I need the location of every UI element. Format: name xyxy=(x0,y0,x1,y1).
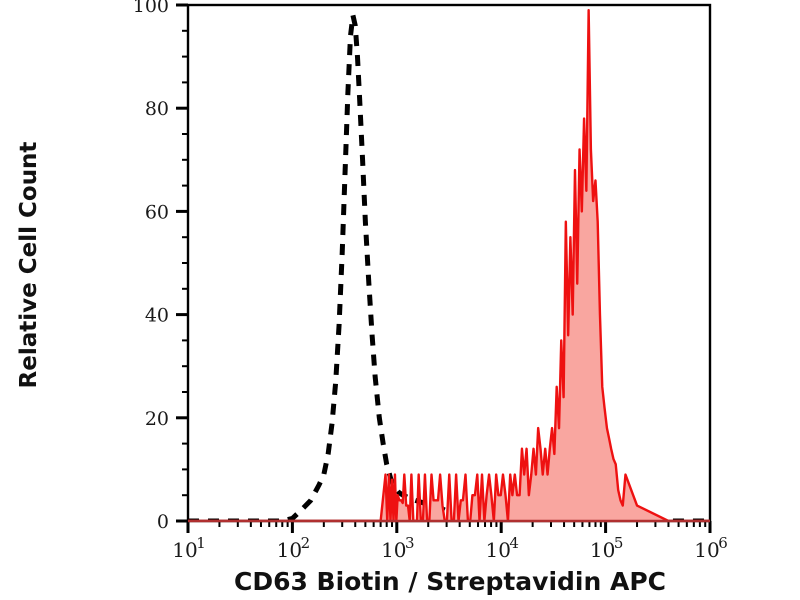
svg-text:1: 1 xyxy=(196,534,206,552)
y-tick-label: 60 xyxy=(145,201,169,223)
svg-text:2: 2 xyxy=(301,534,311,552)
y-tick-label: 0 xyxy=(157,511,169,533)
svg-text:10: 10 xyxy=(381,538,406,562)
svg-text:6: 6 xyxy=(718,534,728,552)
svg-text:10: 10 xyxy=(485,538,510,562)
y-tick-label: 100 xyxy=(133,0,169,17)
svg-text:3: 3 xyxy=(405,534,415,552)
svg-text:5: 5 xyxy=(614,534,624,552)
y-tick-label: 40 xyxy=(145,305,169,327)
svg-text:10: 10 xyxy=(694,538,719,562)
svg-text:10: 10 xyxy=(277,538,302,562)
x-axis-title: CD63 Biotin / Streptavidin APC xyxy=(234,567,666,596)
svg-text:4: 4 xyxy=(509,534,519,552)
svg-text:10: 10 xyxy=(172,538,197,562)
histogram-plot: 020406080100 101102103104105106 CD63 Bio… xyxy=(0,0,800,600)
flow-cytometry-figure: 020406080100 101102103104105106 CD63 Bio… xyxy=(0,0,800,600)
y-axis-title: Relative Cell Count xyxy=(16,142,42,389)
svg-text:10: 10 xyxy=(590,538,615,562)
y-tick-label: 80 xyxy=(145,98,169,120)
y-tick-label: 20 xyxy=(145,408,169,430)
